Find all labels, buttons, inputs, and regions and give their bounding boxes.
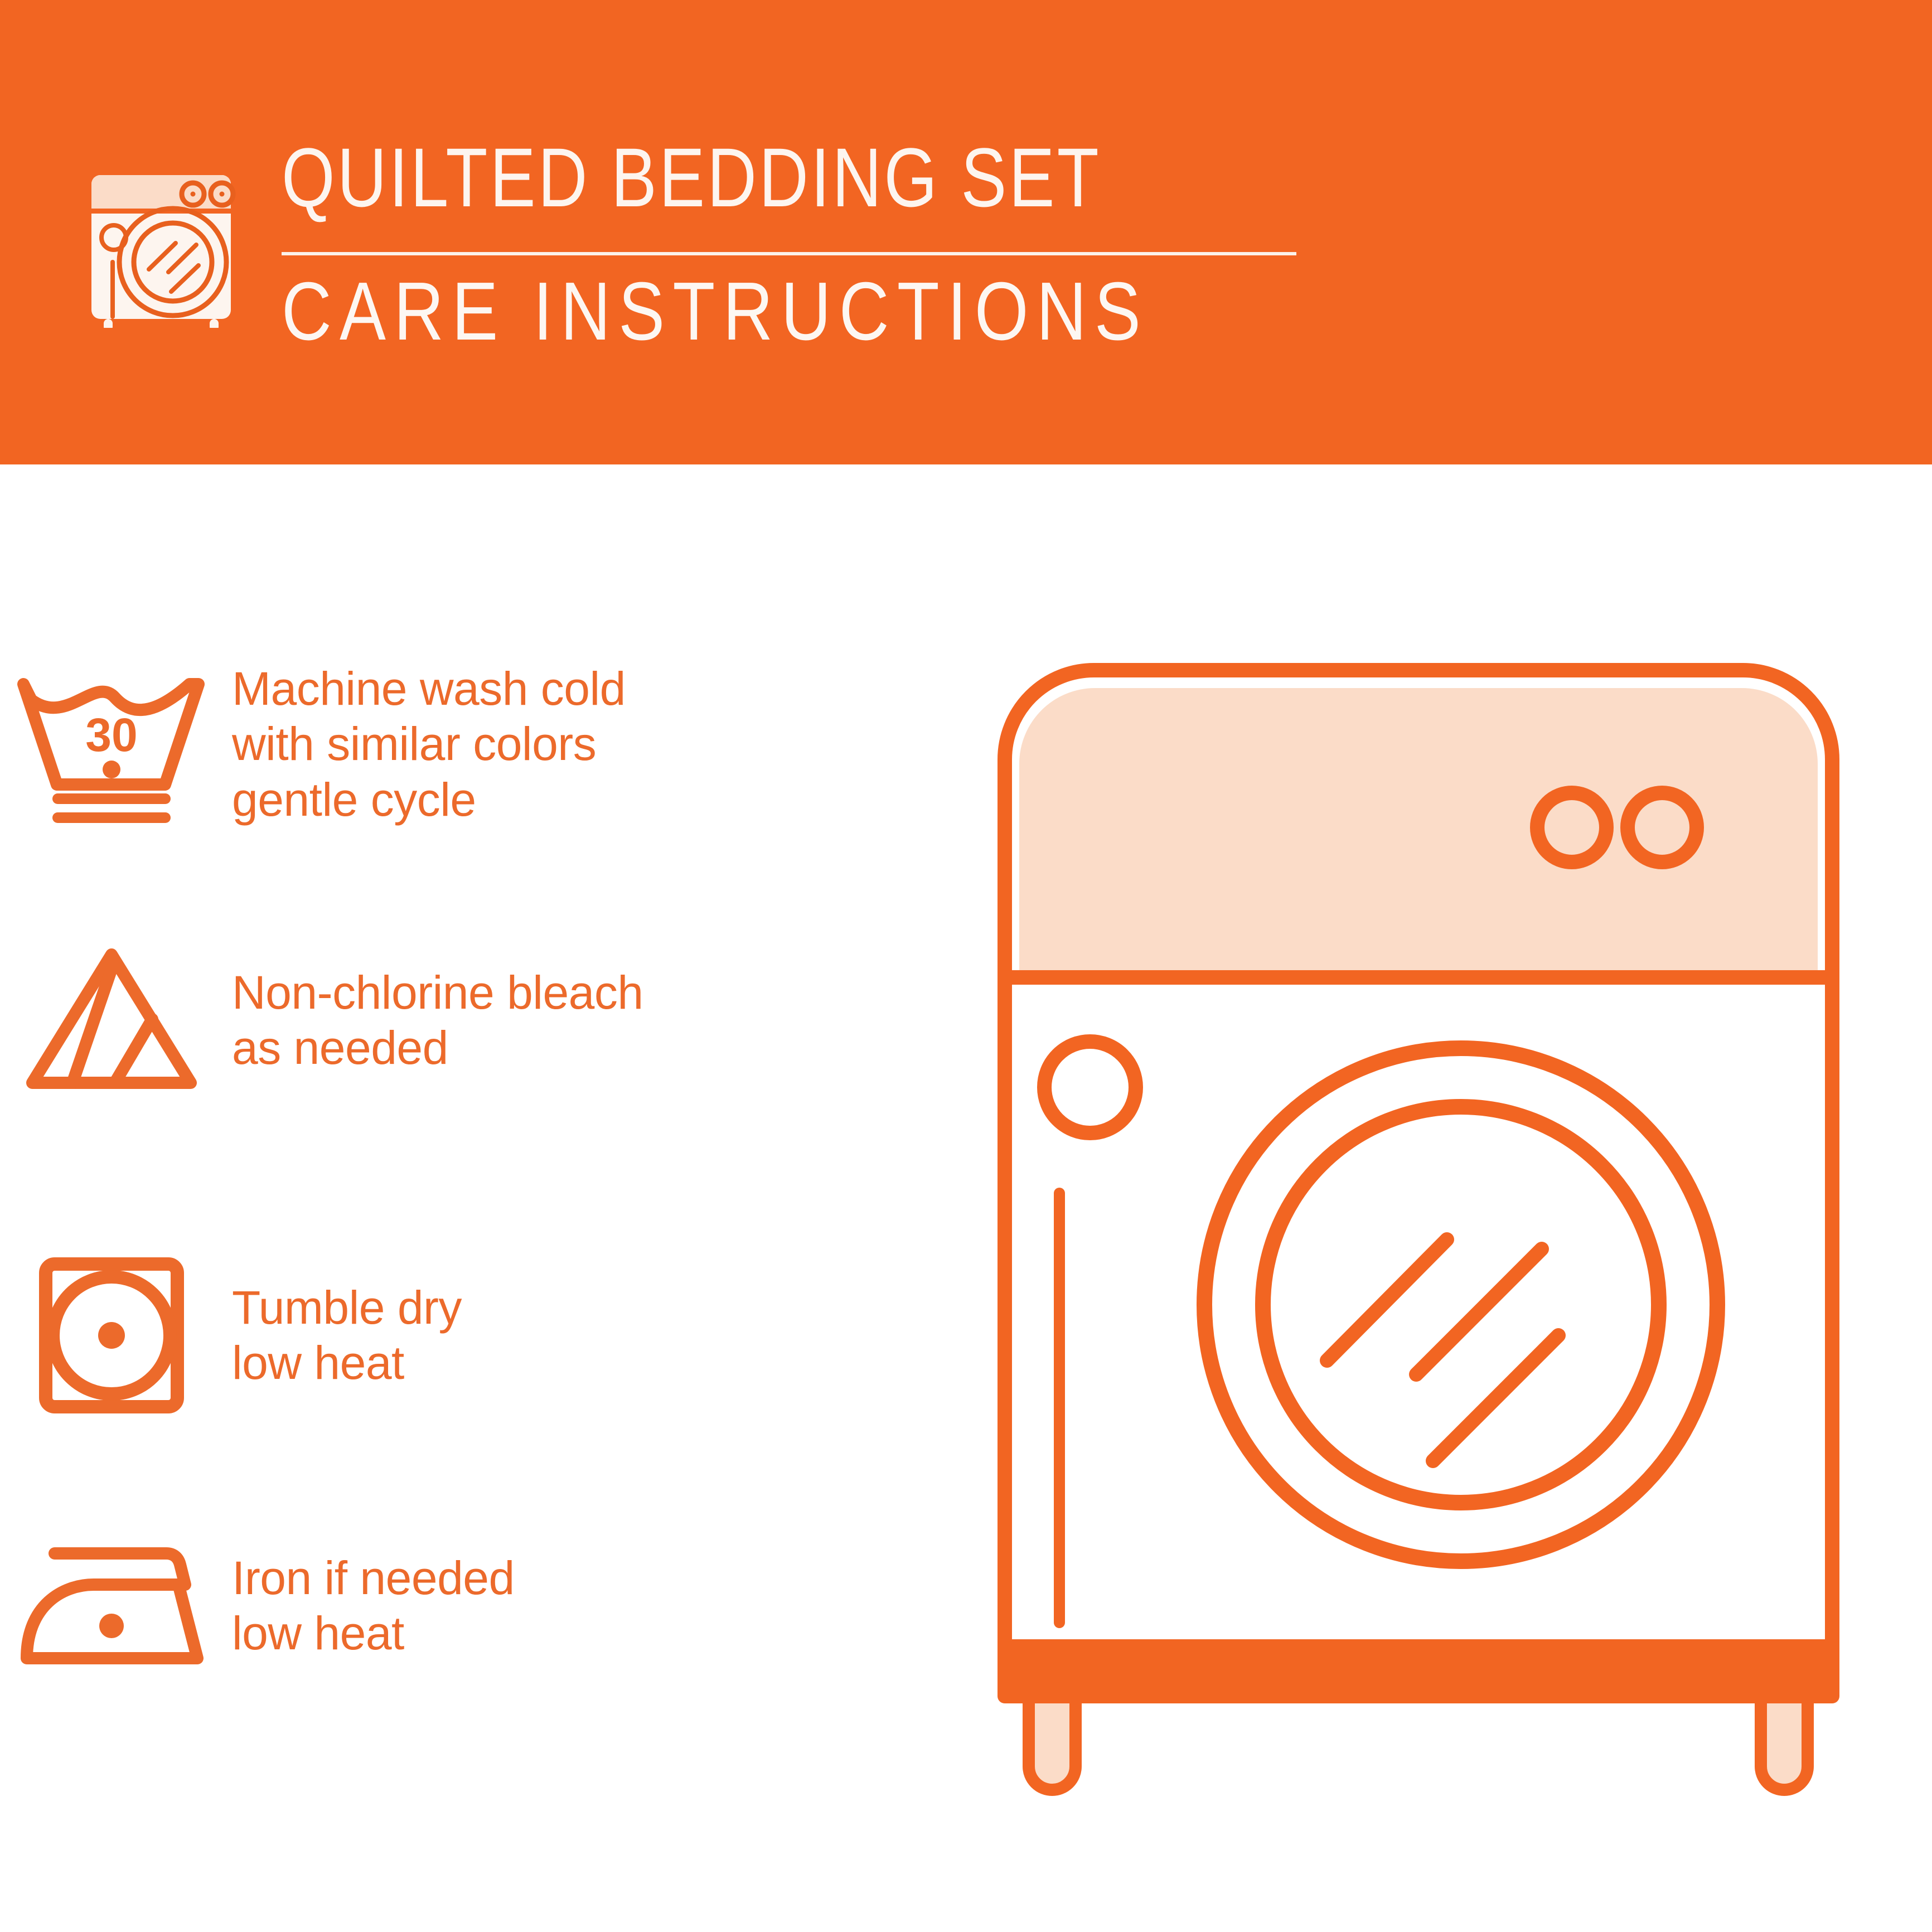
side-stripe	[1054, 1188, 1065, 1628]
header-band: QUILTED BEDDING SET CARE INSTRUCTIONS	[0, 0, 1932, 464]
iron-low-heat-icon	[0, 1514, 223, 1698]
header-text-block: QUILTED BEDDING SET	[282, 135, 1302, 219]
knob-left	[1537, 793, 1606, 862]
care-label-tumble-dry: Tumble dry low heat	[223, 1280, 462, 1391]
care-label-machine-wash: Machine wash cold with similar colors ge…	[223, 661, 626, 827]
care-label-bleach: Non-chlorine bleach as needed	[223, 965, 643, 1076]
non-chlorine-bleach-triangle-icon	[0, 928, 223, 1112]
washing-machine-icon	[84, 138, 245, 328]
title-divider	[282, 252, 1296, 255]
cabinet-base-bar	[1005, 1639, 1832, 1693]
care-row-bleach: Non-chlorine bleach as needed	[0, 928, 920, 1112]
care-row-iron: Iron if needed low heat	[0, 1514, 920, 1698]
wash-tub-30-gentle-icon: 30	[0, 652, 223, 836]
wash-temp-value: 30	[85, 709, 137, 761]
care-row-tumble-dry: Tumble dry low heat	[0, 1243, 920, 1427]
page-title: QUILTED BEDDING SET	[282, 135, 1118, 219]
tumble-dry-low-heat-icon	[0, 1243, 223, 1427]
care-row-machine-wash: 30 Machine wash cold with similar colors…	[0, 652, 920, 836]
control-panel-divider	[1005, 970, 1832, 985]
front-load-washing-machine-illustration	[970, 636, 1890, 1862]
knob-right	[1628, 793, 1697, 862]
page-subtitle: CARE INSTRUCTIONS	[282, 270, 1149, 353]
care-label-iron: Iron if needed low heat	[223, 1551, 515, 1661]
